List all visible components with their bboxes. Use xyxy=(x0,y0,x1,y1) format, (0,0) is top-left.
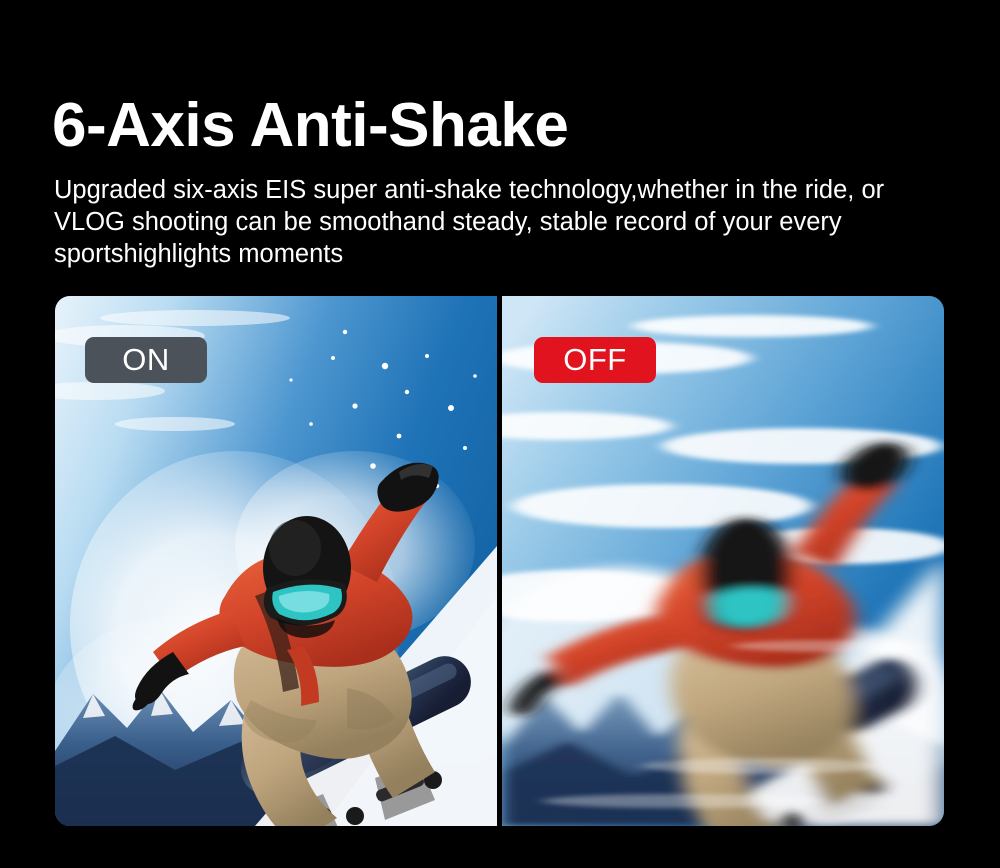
page-description: Upgraded six-axis EIS super anti-shake t… xyxy=(54,174,954,270)
status-badge-off: OFF xyxy=(534,337,656,383)
promo-page: 6-Axis Anti-Shake Upgraded six-axis EIS … xyxy=(0,0,1000,868)
comparison-panels: ON xyxy=(55,296,945,826)
page-title: 6-Axis Anti-Shake xyxy=(52,92,952,160)
status-badge-on: ON xyxy=(85,337,207,383)
panel-stabilization-on: ON xyxy=(55,296,497,826)
panel-stabilization-off: OFF xyxy=(502,296,944,826)
